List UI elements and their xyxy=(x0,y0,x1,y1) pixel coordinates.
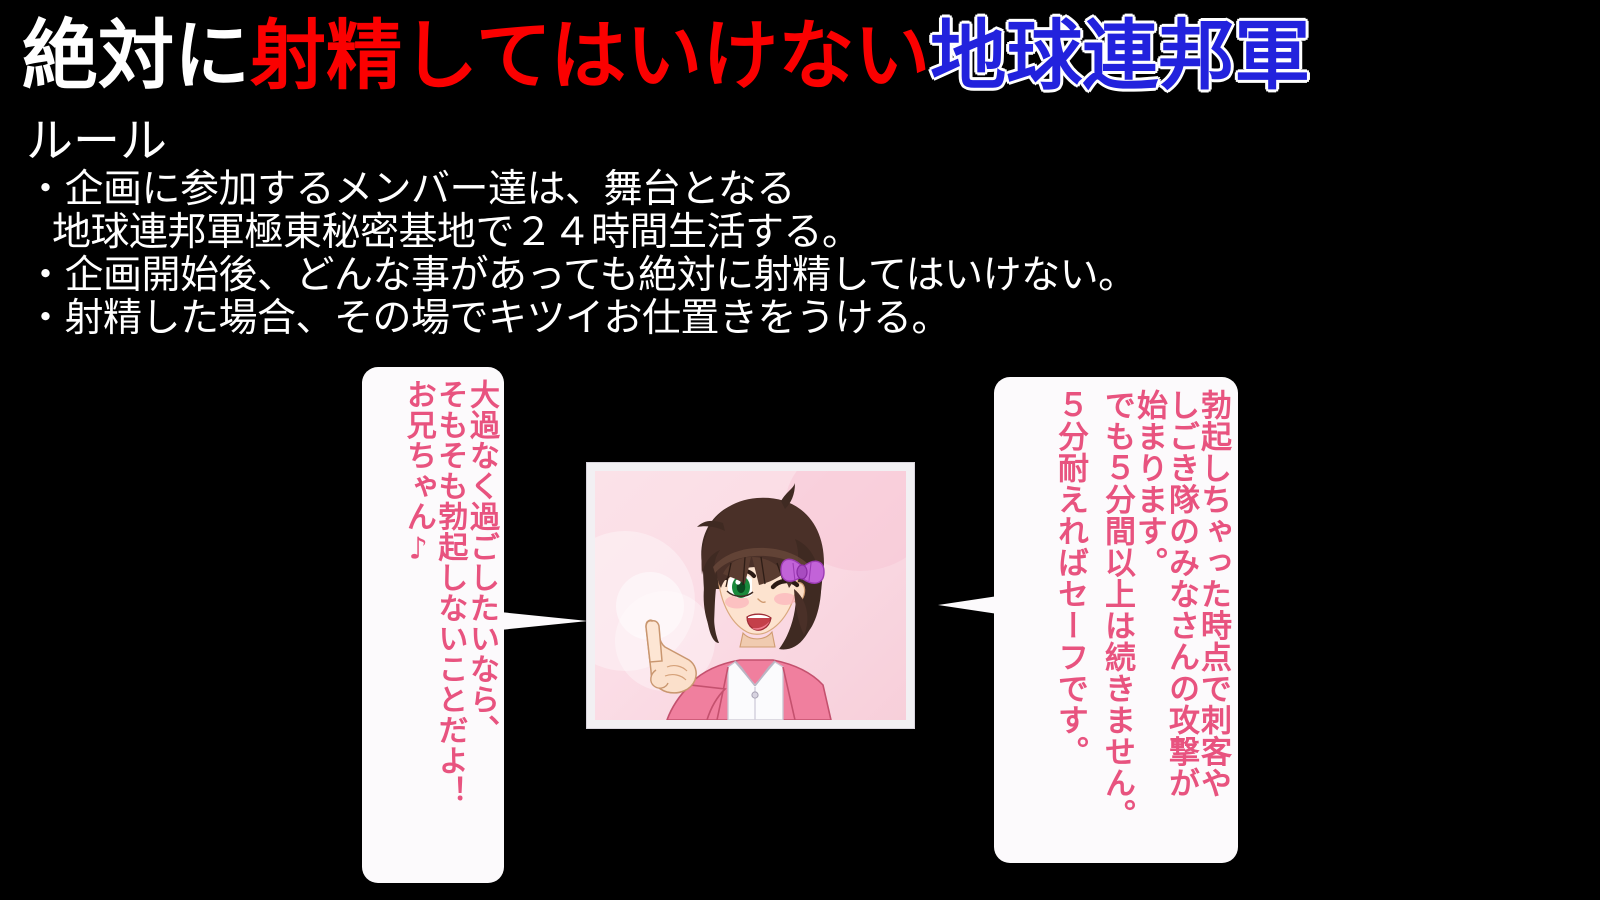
vertical-text-column: 勃起しちゃった時点で刺客や xyxy=(1197,389,1228,799)
rule-line: ・企画に参加するメンバー達は、舞台となる xyxy=(26,168,1326,211)
speech-bubble-right-text: 勃起しちゃった時点で刺客や しごき隊のみなさんの攻撃が 始まります。 でも５分間… xyxy=(1004,389,1228,853)
page-title: 絶対に射精してはいけない地球連邦軍 xyxy=(22,8,1310,104)
character-photo-frame xyxy=(586,462,915,729)
title-segment-blue: 地球連邦軍 xyxy=(930,8,1310,104)
slide-root: 絶対に射精してはいけない地球連邦軍 ルール ・企画に参加するメンバー達は、舞台と… xyxy=(0,0,1600,900)
anime-girl-icon xyxy=(595,471,906,720)
speech-bubble-left-tail xyxy=(500,612,588,630)
vertical-text-column: 大過なく過ごしたいなら、 xyxy=(465,379,496,745)
rules-list: ・企画に参加するメンバー達は、舞台となる 地球連邦軍極東秘密基地で２４時間生活す… xyxy=(26,168,1326,340)
rules-heading: ルール xyxy=(26,116,167,168)
vertical-text-column: そもそも勃起しないことだよ！ xyxy=(434,379,465,806)
title-segment-red: 射精してはいけない xyxy=(250,8,930,104)
rule-line: ・企画開始後、どんな事があっても絶対に射精してはいけない。 xyxy=(26,254,1326,297)
title-segment-white: 絶対に xyxy=(22,8,250,104)
speech-bubble-left-text: 大過なく過ごしたいなら、 そもそも勃起しないことだよ！ お兄ちゃん♪ xyxy=(370,379,496,873)
speech-bubble-left: 大過なく過ごしたいなら、 そもそも勃起しないことだよ！ お兄ちゃん♪ xyxy=(362,367,504,883)
speech-bubble-right-tail xyxy=(938,596,998,614)
vertical-text-column: でも５分間以上は続きません。 xyxy=(1101,389,1132,830)
character-illustration xyxy=(595,471,906,720)
vertical-text-column: 始まります。 xyxy=(1133,389,1164,578)
rule-line: 地球連邦軍極東秘密基地で２４時間生活する。 xyxy=(26,211,1326,254)
speech-bubble-right: 勃起しちゃった時点で刺客や しごき隊のみなさんの攻撃が 始まります。 でも５分間… xyxy=(994,377,1238,863)
rule-line: ・射精した場合、その場でキツイお仕置きをうける。 xyxy=(26,297,1326,340)
vertical-text-column: お兄ちゃん♪ xyxy=(402,379,433,567)
vertical-text-column: しごき隊のみなさんの攻撃が xyxy=(1165,389,1196,799)
vertical-text-column: ５分耐えればセーフです。 xyxy=(1054,389,1085,767)
